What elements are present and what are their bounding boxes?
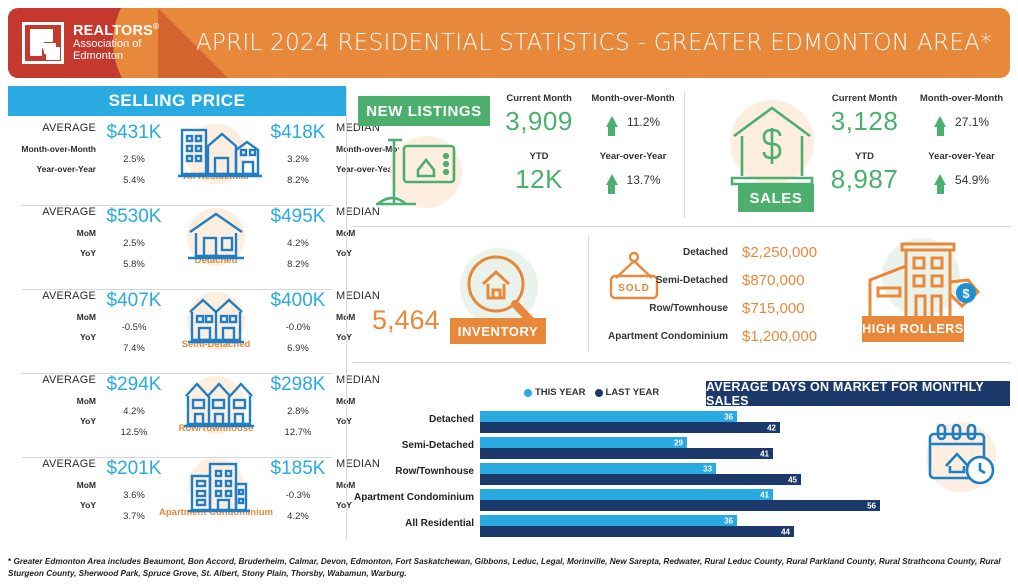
high-rollers-label: Semi-Detached (656, 275, 728, 286)
row-right-sub1-value: 4.2% (287, 238, 309, 249)
house-dollar-icon (716, 100, 828, 186)
vertical-divider-top (684, 92, 685, 218)
chart-row: Apartment Condominium 41 56 (352, 488, 892, 514)
chart-title-banner: AVERAGE DAYS ON MARKET FOR MONTHLY SALES (706, 381, 1010, 406)
townhouse-icon: Row/Townhouse (168, 374, 264, 432)
row-left-value: $407K (107, 290, 162, 312)
row-right-value: $298K (271, 374, 326, 396)
chart-row: Semi-Detached 29 41 (352, 436, 892, 462)
row-right-sub2-value: 8.2% (287, 259, 309, 270)
sales-yoy-label: Year-over-Year (913, 151, 1010, 162)
semi-detached-house-icon: Semi-Detached (168, 290, 264, 348)
bar-value-last-year: 41 (760, 449, 769, 458)
sales-ytd-value: 8,987 (824, 164, 905, 195)
row-left-sub1-value: -0.5% (122, 322, 147, 333)
new-listings-yoy-value: 13.7% (627, 173, 661, 187)
chart-category-label: Row/Townhouse (352, 466, 474, 477)
high-rollers-label: Detached (683, 247, 728, 258)
row-left-label: AVERAGE (42, 290, 96, 302)
high-rollers-label: Row/Townhouse (649, 303, 728, 314)
sales-mom-change: 27.1% (913, 106, 1010, 137)
row-right-sub2-value: 8.2% (287, 175, 309, 186)
horizontal-divider (352, 362, 1010, 363)
selling-price-row: AVERAGE MoM YoY $294K 4.2% 12.5% (8, 368, 346, 452)
legend-item-last-year: LAST YEAR (595, 387, 660, 398)
sales-yoy-change: 54.9% (913, 164, 1010, 195)
calendar-clock-icon (920, 420, 1004, 496)
bar-value-this-year: 41 (760, 490, 769, 499)
row-left-sub2-label: YoY (80, 500, 96, 510)
bar-last-year: 42 (480, 422, 780, 433)
commercial-building-tag-icon: $ (856, 236, 982, 322)
bar-value-last-year: 56 (867, 501, 876, 510)
horizontal-divider (352, 226, 1010, 227)
high-rollers-label: Apartment Condominium (608, 331, 728, 342)
detached-house-icon: Detached (168, 206, 264, 264)
footer-text: Greater Edmonton Area includes Beaumont,… (8, 557, 1001, 578)
sales-mom-label: Month-over-Month (913, 93, 1010, 104)
selling-price-row: AVERAGE MoM YoY $201K 3.6% 3.7% (8, 452, 346, 536)
bar-value-this-year: 36 (724, 412, 733, 421)
chart-category-label: Apartment Condominium (352, 492, 474, 503)
row-left-sub1-label: MoM (77, 312, 96, 322)
selling-price-row: AVERAGE MoM YoY $407K -0.5% 7.4% (8, 284, 346, 368)
legend-dot-this-year (524, 389, 532, 397)
chart-row: Row/Townhouse 33 45 (352, 462, 892, 488)
arrow-up-icon (606, 116, 618, 127)
magnifier-house-icon (452, 246, 552, 332)
row-right-label: MEDIAN (336, 290, 380, 302)
bar-this-year: 29 (480, 437, 687, 448)
realtors-association-logo: REALTORS® Association of Edmonton (22, 22, 159, 64)
row-right-value: $400K (271, 290, 326, 312)
arrow-up-icon (934, 174, 946, 185)
sales-current-month-label: Current Month (824, 93, 905, 104)
row-right-sub2-value: 12.7% (285, 427, 312, 438)
bar-last-year: 41 (480, 448, 773, 459)
sales-current-month-value: 3,128 (824, 106, 905, 137)
new-listings-mom-label: Month-over-Month (586, 93, 680, 104)
row-left-label: AVERAGE (42, 374, 96, 386)
chart-category-label: Semi-Detached (352, 440, 474, 451)
high-rollers-value: $2,250,000 (742, 244, 850, 261)
high-rollers-row: Semi-Detached $870,000 (600, 266, 850, 294)
apartment-building-icon: Apartment Condominium (168, 458, 264, 516)
days-on-market-chart: Detached 36 42 Semi-Detached 29 41 (352, 410, 892, 542)
vertical-divider-mid (588, 236, 589, 352)
bar-this-year: 33 (480, 463, 716, 474)
row-left-sub2-label: YoY (80, 416, 96, 426)
row-left-sub1-label: MoM (77, 396, 96, 406)
logo-registered-mark: ® (153, 22, 159, 31)
logo-line-1: REALTORS (73, 23, 153, 39)
realtors-r-icon (22, 22, 64, 64)
row-right-sub1-value: -0.3% (286, 490, 311, 501)
bar-this-year: 36 (480, 411, 737, 422)
selling-price-row: AVERAGE MoM YoY $530K 2.5% 5.8% (8, 200, 346, 284)
row-left-sub2-value: 5.4% (123, 175, 145, 186)
row-left-sub1-value: 4.2% (123, 406, 145, 417)
row-right-value: $418K (271, 122, 326, 144)
new-listings-stats: Current Month Month-over-Month 3,909 11.… (500, 93, 680, 195)
high-rollers-value: $715,000 (742, 300, 850, 317)
row-right-sub2-label: YoY (336, 332, 352, 342)
row-right-sub1-value: -0.0% (286, 322, 311, 333)
row-left-value: $201K (107, 458, 162, 480)
row-right-sub1-value: 2.8% (287, 406, 309, 417)
footer-disclaimer: * Greater Edmonton Area includes Beaumon… (8, 556, 1010, 581)
row-left-sub1-label: Month-over-Month (21, 144, 96, 154)
vertical-divider (346, 88, 347, 540)
row-right-sub1-value: 3.2% (287, 154, 309, 165)
selling-price-row: AVERAGE Month-over-Month Year-over-Year … (8, 116, 346, 200)
row-right-value: $495K (271, 206, 326, 228)
row-left-label: AVERAGE (42, 206, 96, 218)
selling-price-heading: SELLING PRICE (8, 86, 346, 116)
logo-line-3: Edmonton (73, 51, 159, 63)
chart-category-label: Detached (352, 414, 474, 425)
row-right-sub2-label: YoY (336, 500, 352, 510)
row-left-sub2-value: 12.5% (121, 427, 148, 438)
high-rollers-value: $1,200,000 (742, 328, 850, 345)
inventory-value: 5,464 (372, 305, 440, 336)
bar-value-this-year: 33 (703, 464, 712, 473)
row-right-sub2-label: YoY (336, 248, 352, 258)
row-left-sub1-label: MoM (77, 480, 96, 490)
header-banner: REALTORS® Association of Edmonton APRIL … (8, 8, 1010, 78)
row-left-sub1-value: 2.5% (123, 154, 145, 165)
bar-last-year: 56 (480, 500, 880, 511)
new-listings-mom-value: 11.2% (627, 115, 660, 129)
bar-value-this-year: 29 (674, 438, 683, 447)
multi-house-icon: All Residential (168, 122, 264, 180)
svg-text:$: $ (962, 286, 970, 301)
row-left-sub2-label: Year-over-Year (36, 164, 96, 174)
sales-mom-value: 27.1% (955, 115, 989, 129)
legend-dot-last-year (595, 389, 603, 397)
new-listings-yoy-label: Year-over-Year (586, 151, 680, 162)
chart-row: All Residential 36 44 (352, 514, 892, 540)
new-listings-ytd-label: YTD (500, 151, 578, 162)
row-left-label: AVERAGE (42, 458, 96, 470)
row-left-value: $294K (107, 374, 162, 396)
row-left-sub2-value: 7.4% (123, 343, 145, 354)
row-right-sub2-value: 4.2% (287, 511, 309, 522)
legend-item-this-year: THIS YEAR (524, 387, 586, 398)
row-left-value: $431K (107, 122, 162, 144)
new-listings-current-month-value: 3,909 (500, 106, 578, 137)
row-left-sub1-label: MoM (77, 228, 96, 238)
sales-stats: Current Month Month-over-Month 3,128 27.… (824, 93, 1010, 195)
row-right-value: $185K (271, 458, 326, 480)
infographic-page: REALTORS® Association of Edmonton APRIL … (0, 0, 1018, 588)
row-left-sub1-value: 3.6% (123, 490, 145, 501)
high-rollers-list: Detached $2,250,000 Semi-Detached $870,0… (600, 238, 850, 350)
bar-value-last-year: 42 (767, 423, 776, 432)
row-left-sub1-value: 2.5% (123, 238, 145, 249)
row-left-value: $530K (107, 206, 162, 228)
high-rollers-row: Row/Townhouse $715,000 (600, 294, 850, 322)
sales-ytd-label: YTD (824, 151, 905, 162)
chart-category-label: All Residential (352, 518, 474, 529)
row-left-sub2-label: YoY (80, 248, 96, 258)
new-listings-ytd-value: 12K (500, 164, 578, 195)
row-right-label: MEDIAN (336, 374, 380, 386)
chart-legend: THIS YEAR LAST YEAR (524, 387, 659, 398)
new-listings-badge: NEW LISTINGS (358, 96, 490, 126)
legend-label-this-year: THIS YEAR (535, 387, 586, 398)
legend-label-last-year: LAST YEAR (606, 387, 660, 398)
bar-value-this-year: 36 (724, 516, 733, 525)
bar-last-year: 45 (480, 474, 801, 485)
arrow-up-icon (934, 116, 946, 127)
bar-value-last-year: 44 (781, 527, 790, 536)
high-rollers-row: Apartment Condominium $1,200,000 (600, 322, 850, 350)
selling-price-panel: SELLING PRICE AVERAGE Month-over-Month Y… (8, 86, 346, 542)
bar-value-last-year: 45 (788, 475, 797, 484)
row-left-label: AVERAGE (42, 122, 96, 134)
row-left-sub2-value: 3.7% (123, 511, 145, 522)
new-listings-current-month-label: Current Month (500, 93, 578, 104)
page-title: APRIL 2024 RESIDENTIAL STATISTICS - GREA… (196, 30, 992, 56)
high-rollers-row: Detached $2,250,000 (600, 238, 850, 266)
for-sale-sign-icon (368, 130, 480, 214)
chart-row: Detached 36 42 (352, 410, 892, 436)
sales-yoy-value: 54.9% (955, 173, 989, 187)
row-right-sub2-label: YoY (336, 416, 352, 426)
bar-this-year: 36 (480, 515, 737, 526)
high-rollers-value: $870,000 (742, 272, 850, 289)
row-left-sub2-value: 5.8% (123, 259, 145, 270)
row-left-sub2-label: YoY (80, 332, 96, 342)
sales-badge: SALES (738, 184, 814, 212)
row-right-sub2-value: 6.9% (287, 343, 309, 354)
arrow-up-icon (606, 174, 618, 185)
bar-this-year: 41 (480, 489, 773, 500)
new-listings-mom-change: 11.2% (586, 106, 680, 137)
bar-last-year: 44 (480, 526, 794, 537)
new-listings-yoy-change: 13.7% (586, 164, 680, 195)
